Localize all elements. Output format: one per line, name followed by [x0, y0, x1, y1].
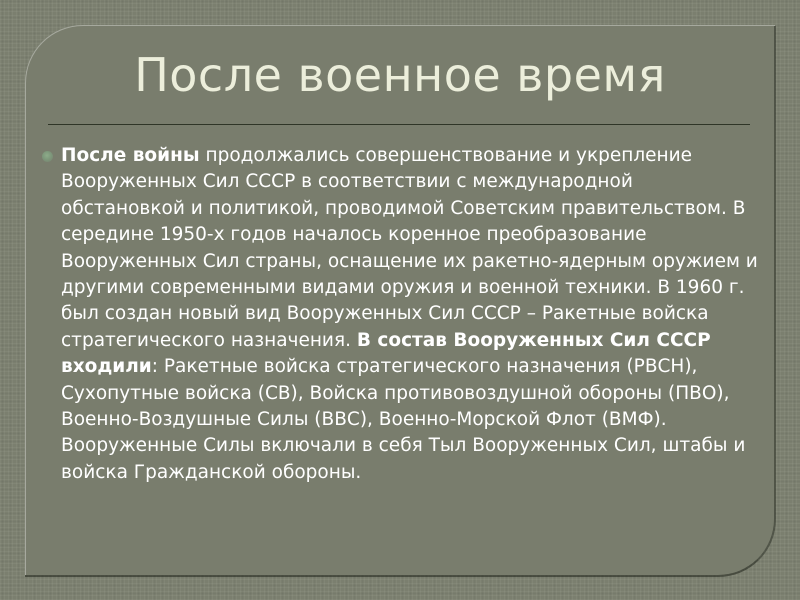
- title-divider: [48, 124, 750, 125]
- presentation-slide: После военное время После войны продолжа…: [0, 0, 800, 600]
- body-bold-lead: После войны: [61, 145, 200, 166]
- slide-title-container: После военное время: [25, 48, 775, 102]
- body-segment-one: продолжались совершенствование и укрепле…: [61, 145, 758, 351]
- body-segment-two: : Ракетные войска стратегического назнач…: [61, 356, 745, 483]
- page-title: После военное время: [25, 48, 775, 102]
- slide-body-container: После войны продолжались совершенствован…: [42, 143, 758, 486]
- bullet-dot-icon: [42, 151, 53, 162]
- body-paragraph: После войны продолжались совершенствован…: [61, 143, 758, 486]
- list-item: После войны продолжались совершенствован…: [42, 143, 758, 486]
